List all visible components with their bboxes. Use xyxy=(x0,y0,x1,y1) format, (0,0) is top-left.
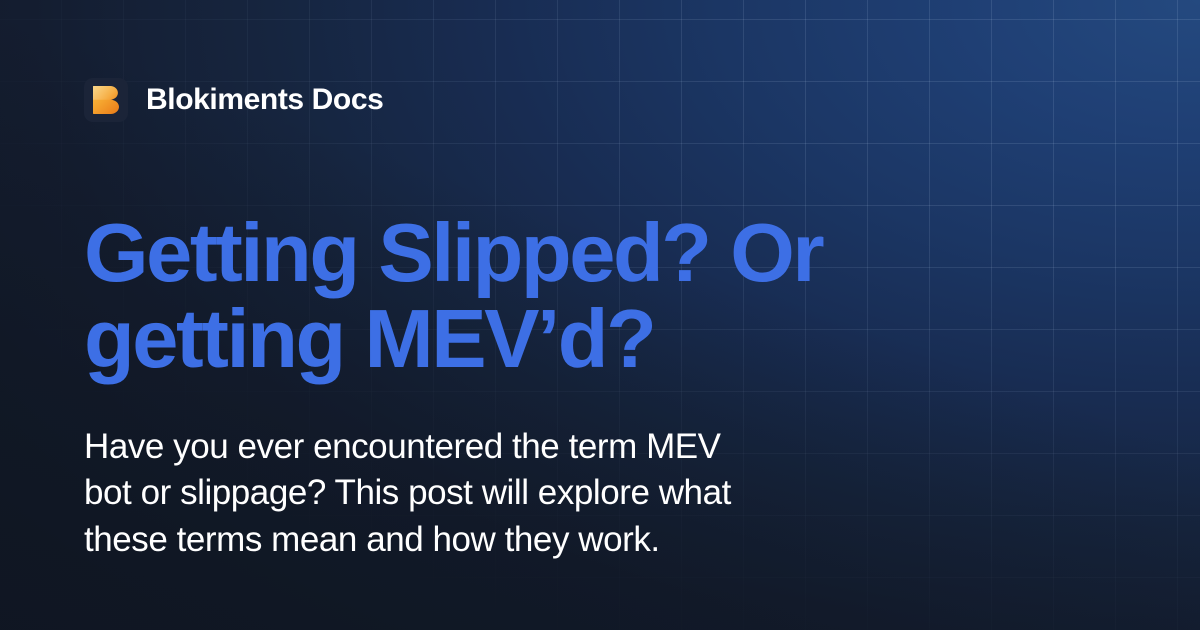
page-subtitle: Have you ever encountered the term MEV b… xyxy=(84,424,874,564)
page-title-line-1: Getting Slipped? Or xyxy=(84,210,1004,296)
page-title-line-2: getting MEV’d? xyxy=(84,296,1004,382)
banner-content: Blokiments Docs Getting Slipped? Or gett… xyxy=(0,0,1200,630)
brand-header: Blokiments Docs xyxy=(84,78,1120,122)
page-subtitle-line-3: these terms mean and how they work. xyxy=(84,517,874,564)
og-banner: Blokiments Docs Getting Slipped? Or gett… xyxy=(0,0,1200,630)
page-title: Getting Slipped? Or getting MEV’d? xyxy=(84,210,1004,382)
page-subtitle-line-1: Have you ever encountered the term MEV xyxy=(84,424,874,471)
logo-tile xyxy=(84,78,128,122)
brand-name: Blokiments Docs xyxy=(146,85,383,115)
blokiments-b-logo-icon xyxy=(92,85,120,115)
page-subtitle-line-2: bot or slippage? This post will explore … xyxy=(84,470,874,517)
